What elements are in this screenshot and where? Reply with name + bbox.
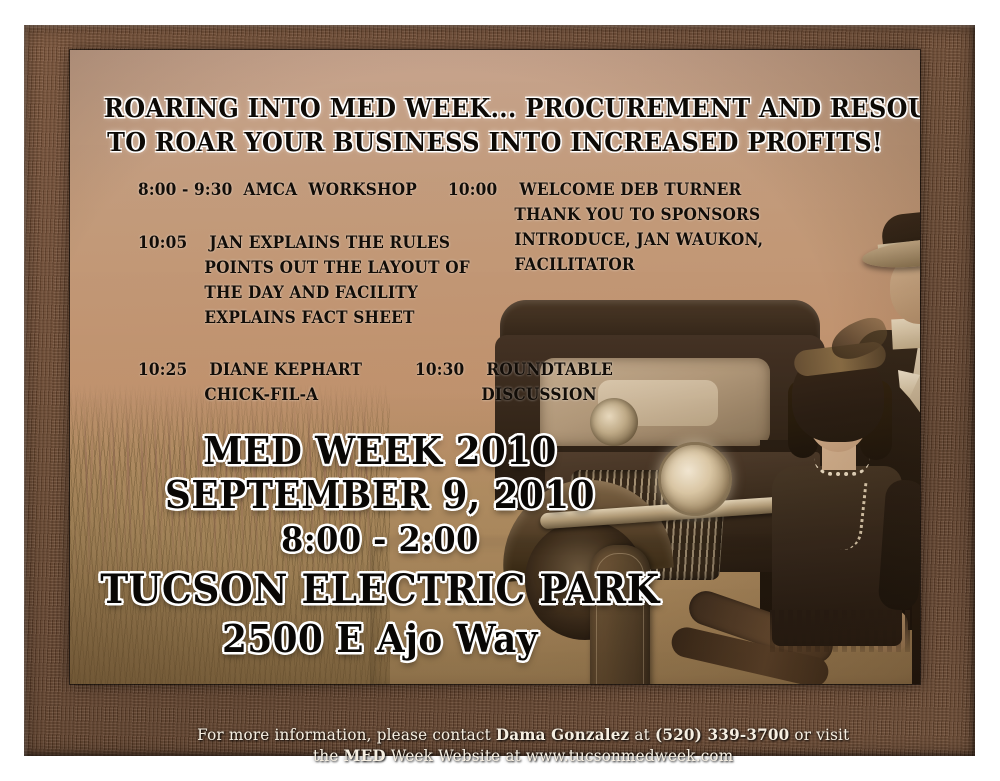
footer-text-2a: the (313, 746, 343, 765)
footer-text-1e: or visit (790, 725, 850, 744)
schedule-item-jan-explains-rules: 10:05 JAN EXPLAINS THE RULES POINTS OUT … (138, 230, 470, 330)
event-venue: TUCSON ELECTRIC PARK (89, 566, 672, 613)
website-url[interactable]: www.tucsonmedweek.com (526, 746, 733, 765)
schedule-item-roundtable-discussion: 10:30 ROUNDTABLE DISCUSSION (415, 357, 613, 407)
footer-text-1a: For more information, please contact (197, 725, 496, 744)
event-hours: 8:00 - 2:00 (89, 520, 672, 560)
event-date: SEPTEMBER 9, 2010 (89, 472, 672, 517)
headline-line-1: ROARING INTO MED WEEK... PROCUREMENT AND… (104, 94, 886, 124)
poster-text-layer: ROARING INTO MED WEEK... PROCUREMENT AND… (70, 50, 920, 684)
schedule-item-diane-kephart: 10:25 DIANE KEPHART CHICK-FIL-A (138, 357, 362, 407)
flyer-canvas: ROARING INTO MED WEEK... PROCUREMENT AND… (0, 0, 1000, 773)
footer-line-1: For more information, please contact Dam… (197, 725, 849, 744)
event-address: 2500 E Ajo Way (89, 616, 672, 661)
footer-text-1c: at (630, 725, 656, 744)
footer-line-2: the MED Week Website at www.tucsonmedwee… (313, 746, 733, 765)
wood-frame: ROARING INTO MED WEEK... PROCUREMENT AND… (24, 25, 975, 756)
footer-contact-block: For more information, please contact Dam… (48, 709, 999, 781)
schedule-item-welcome-deb-turner: 10:00 WELCOME DEB TURNER THANK YOU TO SP… (448, 177, 763, 277)
event-title: MED WEEK 2010 (89, 428, 672, 473)
contact-phone[interactable]: (520) 339-3700 (655, 725, 789, 744)
footer-text-2c: Week Website at (386, 746, 526, 765)
poster-photo: ROARING INTO MED WEEK... PROCUREMENT AND… (70, 50, 920, 684)
contact-name: Dama Gonzalez (496, 725, 629, 744)
schedule-item-amca-workshop: 8:00 - 9:30 AMCA WORKSHOP (138, 177, 417, 202)
med-label: MED (344, 746, 386, 765)
headline-line-2: TO ROAR YOUR BUSINESS INTO INCREASED PRO… (104, 128, 886, 158)
